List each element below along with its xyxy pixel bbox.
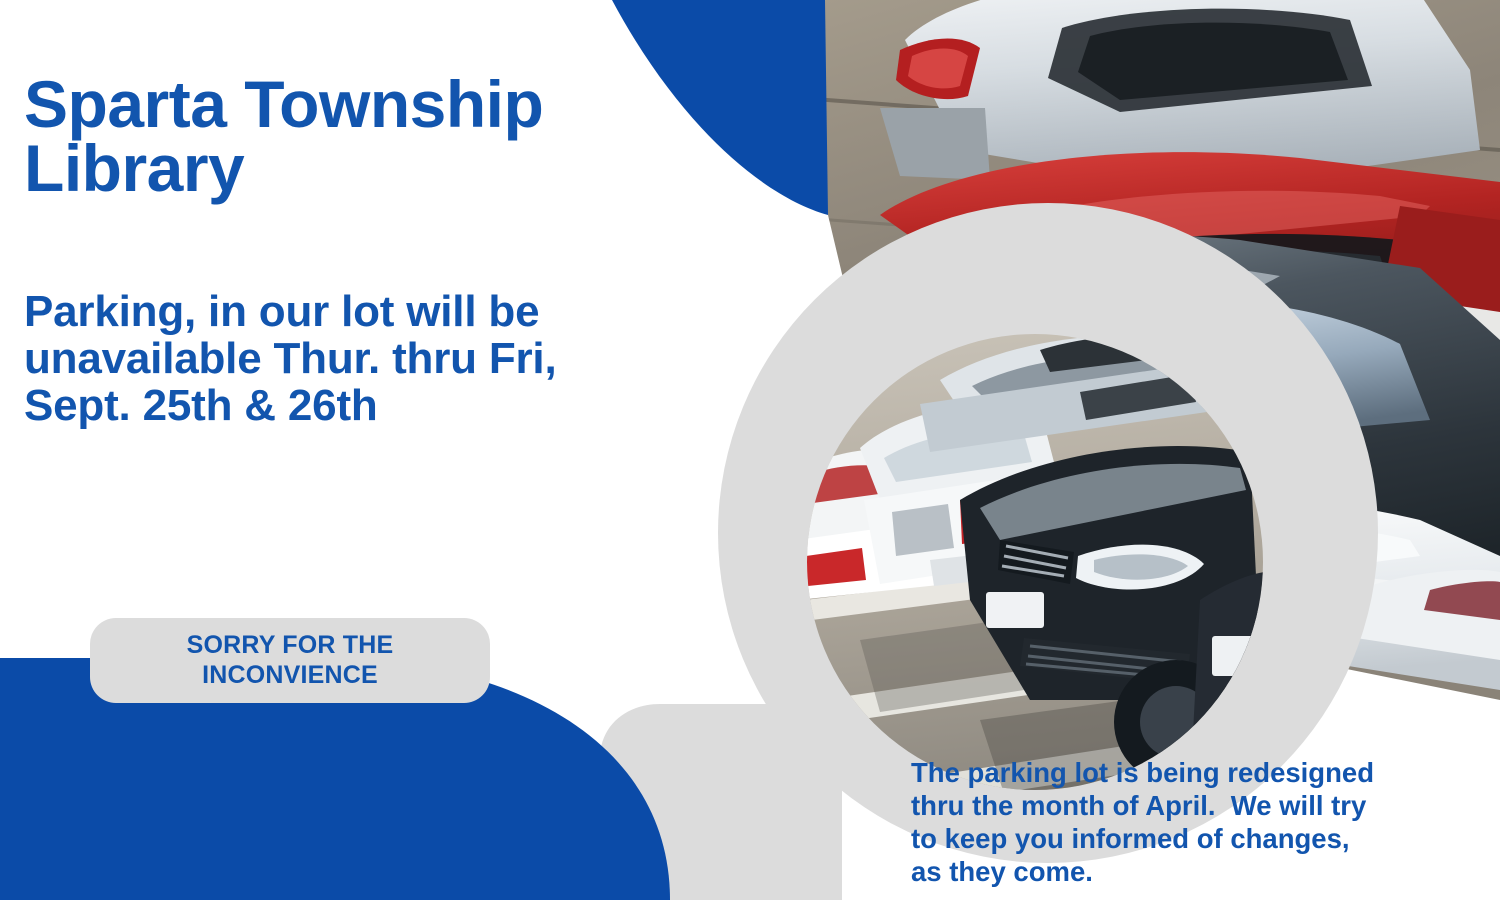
footnote-line-4: as they come. (911, 855, 1491, 888)
apology-badge: SORRY FOR THE INCONVIENCE (90, 618, 490, 703)
headline: Parking, in our lot will be unavailable … (24, 288, 664, 429)
inset-photo (796, 330, 1290, 816)
poster-canvas: Sparta Township Library Parking, in our … (0, 0, 1500, 900)
page-title: Sparta Township Library (24, 72, 664, 200)
headline-line-1: Parking, in our lot will (24, 287, 476, 336)
footnote-line-3: to keep you informed of changes, (911, 822, 1491, 855)
footnote-line-2: thru the month of April. We will try (911, 789, 1491, 822)
apology-badge-text: SORRY FOR THE INCONVIENCE (187, 631, 394, 690)
footnote: The parking lot is being redesigned thru… (911, 756, 1491, 888)
footnote-line-1: The parking lot is being redesigned (911, 756, 1491, 789)
apology-line-2: INCONVIENCE (202, 661, 378, 689)
apology-line-1: SORRY FOR THE (187, 631, 394, 659)
main-photo (760, 0, 1500, 740)
gray-blob-bottom-center (600, 704, 842, 900)
headline-line-4: 26th (288, 381, 378, 430)
